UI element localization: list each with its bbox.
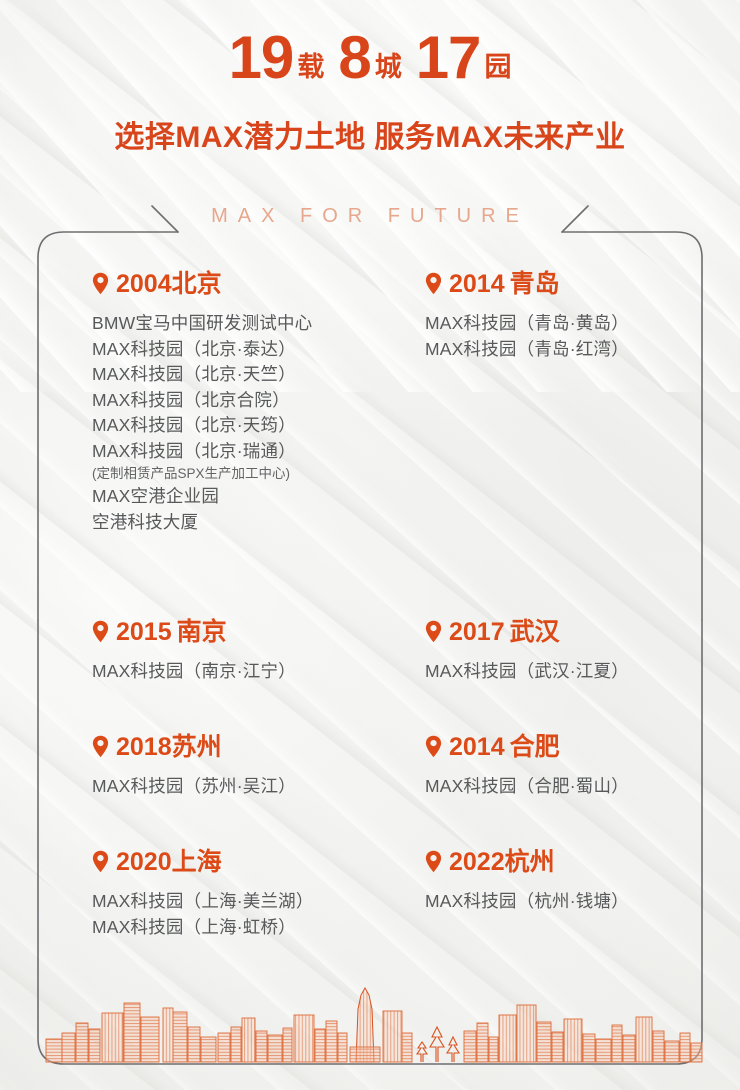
city-heading: 2017武汉	[425, 620, 629, 645]
city-year: 2014	[449, 272, 505, 297]
list-item: 空港科技大厦	[92, 510, 312, 536]
city-name: 青岛	[510, 272, 560, 297]
city-name: 合肥	[510, 735, 560, 760]
city-skyline-illustration	[40, 975, 705, 1065]
location-pin-icon	[425, 850, 442, 873]
location-pin-icon	[92, 850, 109, 873]
location-pin-icon	[92, 272, 109, 295]
list-item: (定制相赁产品SPX生产加工中心)	[92, 464, 312, 484]
city-heading: 2018苏州	[92, 735, 296, 760]
city-block-南京: 2015南京MAX科技园（南京·江宁）	[92, 620, 296, 685]
location-pin-icon	[425, 272, 442, 295]
city-name: 苏州	[172, 735, 222, 760]
list-item: MAX科技园（青岛·红湾）	[425, 337, 629, 363]
project-list: MAX科技园（苏州·吴江）	[92, 774, 296, 800]
headline-unit-2: 城	[375, 52, 402, 82]
city-name: 杭州	[505, 850, 555, 875]
project-list: MAX科技园（南京·江宁）	[92, 659, 296, 685]
list-item: MAX科技园（北京·天筠）	[92, 413, 312, 439]
project-list: MAX科技园（杭州·钱塘）	[425, 889, 629, 915]
city-year: 2018	[116, 735, 172, 760]
list-item: MAX科技园（南京·江宁）	[92, 659, 296, 685]
city-block-武汉: 2017武汉MAX科技园（武汉·江夏）	[425, 620, 629, 685]
project-list: MAX科技园（合肥·蜀山）	[425, 774, 629, 800]
location-pin-icon	[92, 620, 109, 643]
list-item: MAX科技园（合肥·蜀山）	[425, 774, 629, 800]
list-item: MAX科技园（北京·瑞通）	[92, 439, 312, 465]
city-year: 2017	[449, 620, 505, 645]
project-list: BMW宝马中国研发测试中心MAX科技园（北京·泰达）MAX科技园（北京·天竺）M…	[92, 311, 312, 535]
city-year: 2022	[449, 850, 505, 875]
headline-unit-3: 园	[484, 52, 511, 82]
list-item: MAX科技园（上海·虹桥）	[92, 915, 314, 941]
tagline-max-for-future: MAX FOR FUTURE	[0, 205, 740, 228]
list-item: MAX科技园（青岛·黄岛）	[425, 311, 629, 337]
list-item: MAX科技园（北京合院）	[92, 388, 312, 414]
headline-number-3: 17	[416, 24, 481, 91]
list-item: MAX科技园（北京·天竺）	[92, 362, 312, 388]
city-heading: 2015南京	[92, 620, 296, 645]
city-block-北京: 2004北京BMW宝马中国研发测试中心MAX科技园（北京·泰达）MAX科技园（北…	[92, 272, 312, 535]
city-heading: 2004北京	[92, 272, 312, 297]
list-item: MAX空港企业园	[92, 484, 312, 510]
headline-number-2: 8	[338, 24, 370, 91]
headline-subtitle: 选择MAX潜力土地 服务MAX未来产业	[0, 112, 740, 156]
headline-unit-1: 载	[297, 52, 324, 82]
project-list: MAX科技园（上海·美兰湖）MAX科技园（上海·虹桥）	[92, 889, 314, 940]
city-name: 南京	[177, 620, 227, 645]
list-item: MAX科技园（上海·美兰湖）	[92, 889, 314, 915]
headline-number-1: 19	[229, 24, 294, 91]
city-block-苏州: 2018苏州MAX科技园（苏州·吴江）	[92, 735, 296, 800]
city-block-青岛: 2014青岛MAX科技园（青岛·黄岛）MAX科技园（青岛·红湾）	[425, 272, 629, 362]
city-year: 2020	[116, 850, 172, 875]
city-year: 2004	[116, 272, 172, 297]
location-pin-icon	[425, 620, 442, 643]
list-item: BMW宝马中国研发测试中心	[92, 311, 312, 337]
project-list: MAX科技园（青岛·黄岛）MAX科技园（青岛·红湾）	[425, 311, 629, 362]
list-item: MAX科技园（武汉·江夏）	[425, 659, 629, 685]
location-pin-icon	[92, 735, 109, 758]
city-heading: 2014青岛	[425, 272, 629, 297]
city-name: 北京	[172, 272, 222, 297]
city-block-合肥: 2014合肥MAX科技园（合肥·蜀山）	[425, 735, 629, 800]
city-name: 上海	[172, 850, 222, 875]
city-block-杭州: 2022杭州MAX科技园（杭州·钱塘）	[425, 850, 629, 915]
location-pin-icon	[425, 735, 442, 758]
project-list: MAX科技园（武汉·江夏）	[425, 659, 629, 685]
list-item: MAX科技园（苏州·吴江）	[92, 774, 296, 800]
city-heading: 2014合肥	[425, 735, 629, 760]
list-item: MAX科技园（北京·泰达）	[92, 337, 312, 363]
city-block-上海: 2020上海MAX科技园（上海·美兰湖）MAX科技园（上海·虹桥）	[92, 850, 314, 940]
city-heading: 2022杭州	[425, 850, 629, 875]
headline-stats: 19载8城17园	[0, 28, 740, 88]
city-heading: 2020上海	[92, 850, 314, 875]
city-year: 2015	[116, 620, 172, 645]
list-item: MAX科技园（杭州·钱塘）	[425, 889, 629, 915]
city-name: 武汉	[510, 620, 560, 645]
city-year: 2014	[449, 735, 505, 760]
